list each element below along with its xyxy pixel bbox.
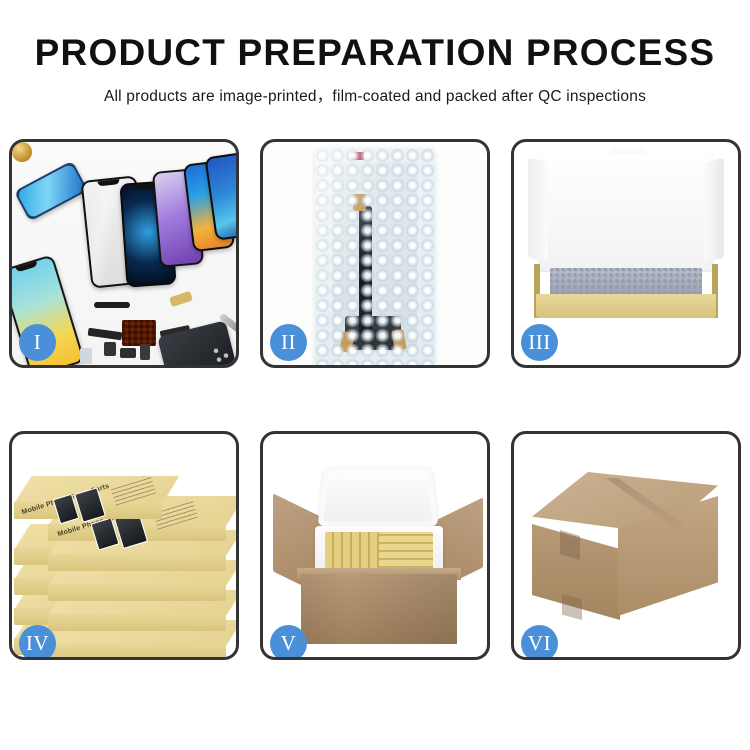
process-steps-grid: I II <box>9 139 741 660</box>
carton-body-shading <box>301 574 457 644</box>
battery-connector-strip <box>94 302 130 308</box>
box-lid-panel <box>538 154 714 272</box>
process-step-5-panel: V <box>260 431 490 660</box>
page-header: PRODUCT PREPARATION PROCESS All products… <box>0 0 750 106</box>
bubble-wrap-bag <box>315 148 435 365</box>
step-5-image <box>263 434 487 657</box>
step-4-image: Mobile Phone Spare Parts Mobile Phone Sp… <box>12 434 236 657</box>
phone-adhesive-frame <box>14 160 88 221</box>
screws-group <box>212 346 232 362</box>
small-component-1 <box>104 342 116 356</box>
product-preparation-page: PRODUCT PREPARATION PROCESS All products… <box>0 0 750 750</box>
logic-board-chip <box>122 320 156 346</box>
page-title: PRODUCT PREPARATION PROCESS <box>0 34 750 71</box>
step-badge-3: III <box>521 324 558 361</box>
step-badge-6: VI <box>521 625 558 660</box>
speaker-coil-part <box>12 142 32 162</box>
box-lid-flap-right <box>704 158 724 262</box>
box-stack: Mobile Phone Spare Parts Mobile Phone Sp… <box>12 434 236 657</box>
step-badge-1: I <box>19 324 56 361</box>
process-step-4-panel: Mobile Phone Spare Parts Mobile Phone Sp… <box>9 431 239 660</box>
small-component-4 <box>80 348 92 364</box>
gold-bracket-part <box>169 291 193 307</box>
process-step-1-panel: I <box>9 139 239 368</box>
flex-cable-1 <box>88 328 123 341</box>
step-badge-5: V <box>270 625 307 660</box>
foam-cooler-lid <box>318 467 439 527</box>
box-lid-flap-left <box>528 158 548 262</box>
process-step-3-panel: III <box>511 139 741 368</box>
process-step-2-panel: II <box>260 139 490 368</box>
step-6-image <box>514 434 738 657</box>
bag-sheen <box>315 148 435 365</box>
small-component-2 <box>120 348 136 358</box>
page-subtitle: All products are image-printed，film-coat… <box>0 84 750 106</box>
box-front-face <box>536 294 716 318</box>
process-step-6-panel: VI <box>511 431 741 660</box>
small-component-3 <box>140 344 150 360</box>
step-badge-2: II <box>270 324 307 361</box>
step-badge-4: IV <box>19 625 56 660</box>
